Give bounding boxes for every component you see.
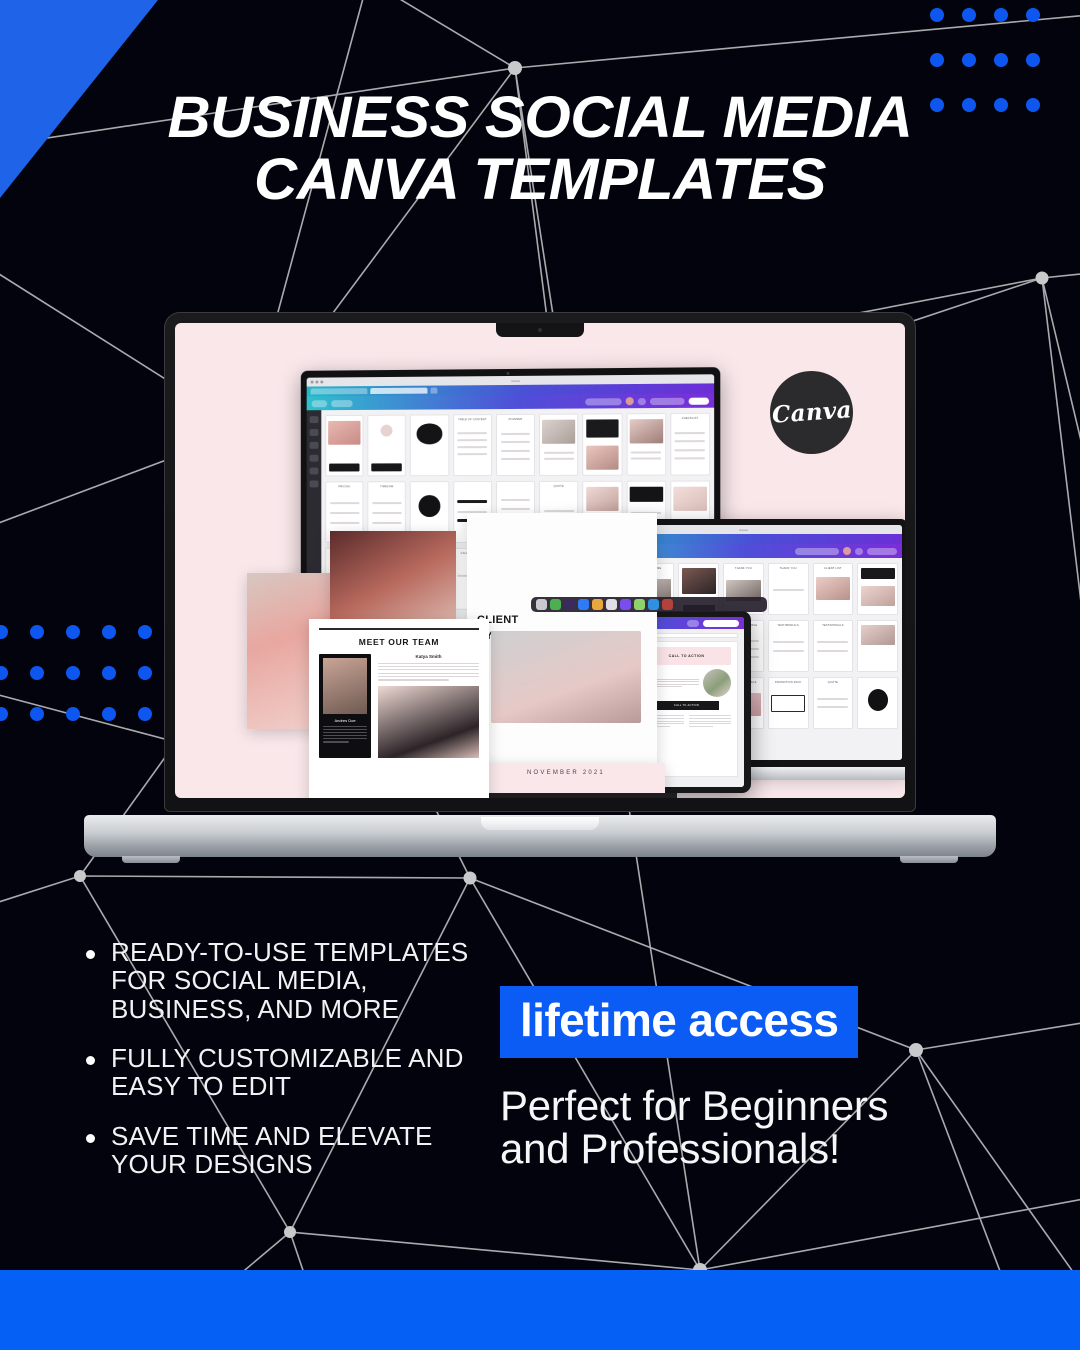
- print-button[interactable]: [703, 620, 739, 627]
- decor-dot: [0, 666, 8, 680]
- template-thumbnail[interactable]: QUOTE: [813, 677, 854, 729]
- status-badge: lifetime access: [500, 986, 858, 1058]
- sidebar-item-elements[interactable]: [310, 442, 319, 449]
- podcasts-icon[interactable]: [564, 599, 575, 610]
- notes-icon[interactable]: [634, 599, 645, 610]
- team-member-name: Andres Doe: [323, 718, 367, 723]
- bullet-dot-icon: [86, 1056, 95, 1065]
- doc-cta-button[interactable]: CALL TO ACTION: [654, 701, 718, 710]
- bullet-dot-icon: [86, 1134, 95, 1143]
- template-thumbnail[interactable]: CHECKLIST: [670, 413, 710, 476]
- sidebar-item-templates[interactable]: [310, 429, 319, 436]
- canva-logo-badge: Canva: [770, 371, 853, 454]
- template-thumbnail[interactable]: [539, 414, 578, 476]
- laptop-foot-right: [900, 856, 958, 863]
- bullet-text: READY-TO-USE TEMPLATES FOR SOCIAL MEDIA,…: [111, 938, 506, 1023]
- template-thumbnail[interactable]: [626, 413, 666, 476]
- team-member-bio: [323, 726, 367, 743]
- window-close-icon[interactable]: [311, 381, 314, 384]
- laptop-mockup: Canva Canva: [84, 312, 996, 857]
- template-thumbnail[interactable]: PROMOTION PACK: [768, 677, 809, 729]
- bullet-text: FULLY CUSTOMIZABLE AND EASY TO EDIT: [111, 1044, 506, 1101]
- file-menu-button[interactable]: [312, 400, 328, 407]
- page-title: BUSINESS SOCIAL MEDIA CANVA TEMPLATES: [0, 88, 1080, 211]
- doc-heading: CALL TO ACTION: [669, 654, 705, 658]
- browser-tab-active[interactable]: [370, 388, 427, 394]
- decor-dot: [66, 707, 80, 721]
- decor-dot: [30, 666, 44, 680]
- decor-dot: [66, 666, 80, 680]
- headline-line-1: BUSINESS SOCIAL MEDIA: [46, 88, 1035, 148]
- share-icon[interactable]: [638, 398, 646, 405]
- try-pro-button[interactable]: [867, 548, 897, 555]
- messages-icon[interactable]: [550, 599, 561, 610]
- list-item: FULLY CUSTOMIZABLE AND EASY TO EDIT: [86, 1044, 506, 1101]
- template-thumbnail[interactable]: [583, 413, 623, 476]
- template-thumbnail[interactable]: TABLE OF CONTENT: [453, 414, 492, 476]
- bottom-accent-bar: [0, 1270, 1080, 1350]
- canva-app-icon[interactable]: [620, 599, 631, 610]
- decor-dot: [1026, 8, 1040, 22]
- list-item: SAVE TIME AND ELEVATE YOUR DESIGNS: [86, 1122, 506, 1179]
- date-label: NOVEMBER 2021: [527, 770, 605, 776]
- template-thumbnail[interactable]: THANK YOU: [768, 563, 809, 615]
- template-thumbnail[interactable]: [857, 620, 898, 672]
- canva-logo-text: Canva: [771, 396, 852, 428]
- bullet-dot-icon: [86, 950, 95, 959]
- sidebar-item-projects[interactable]: [310, 480, 319, 487]
- decor-dot: [30, 707, 44, 721]
- browser-tab[interactable]: [311, 388, 368, 394]
- trash-icon[interactable]: [662, 599, 673, 610]
- tagline-line-2: and Professionals!: [500, 1127, 1020, 1170]
- sale-banner: CIAL SALE OFFER: [481, 793, 677, 798]
- template-thumbnail[interactable]: [410, 414, 449, 476]
- create-design-button[interactable]: [331, 400, 353, 407]
- sidebar-item-text[interactable]: [310, 468, 319, 475]
- share-button[interactable]: [687, 620, 699, 627]
- collage-client-packet-card: CLIENT BYE PACKET: [467, 513, 657, 763]
- toolbar-right-group: [795, 547, 897, 555]
- decor-dot: [994, 8, 1008, 22]
- decor-dot: [66, 625, 80, 639]
- decor-dot: [0, 707, 8, 721]
- headline-line-2: CANVA TEMPLATES: [46, 150, 1035, 210]
- team-member-photo: [378, 686, 479, 758]
- list-item: READY-TO-USE TEMPLATES FOR SOCIAL MEDIA,…: [86, 938, 506, 1023]
- sidebar-item-home[interactable]: [310, 416, 319, 423]
- webcam-notch: [496, 323, 584, 337]
- decor-dot: [30, 625, 44, 639]
- device-camera-icon: [507, 372, 510, 375]
- team-card-title: MEET OUR TEAM: [319, 637, 479, 647]
- team-member-photo: [323, 658, 367, 714]
- collage-team-card: MEET OUR TEAM Andres Doe Katya Smith: [309, 619, 489, 798]
- macos-dock: [531, 597, 767, 612]
- avatar[interactable]: [626, 397, 634, 405]
- badge-label: lifetime access: [520, 997, 838, 1043]
- finder-icon[interactable]: [536, 599, 547, 610]
- decor-dot: [962, 53, 976, 67]
- photos-icon[interactable]: [592, 599, 603, 610]
- team-member-card: Andres Doe: [319, 654, 371, 758]
- template-thumbnail[interactable]: TESTIMONIALS: [768, 620, 809, 672]
- doc-circle-image: [703, 669, 731, 697]
- tagline-line-1: Perfect for Beginners: [500, 1084, 1020, 1127]
- window-minimize-icon[interactable]: [315, 381, 318, 384]
- toolbar-right-group: [585, 397, 709, 406]
- client-packet-image: [491, 631, 641, 723]
- template-row: TABLE OF CONTENT PLANNER CHECKLIST: [325, 413, 710, 477]
- team-member-name: Katya Smith: [378, 654, 479, 659]
- template-thumbnail[interactable]: [325, 415, 363, 477]
- team-side-column: Katya Smith: [378, 654, 479, 758]
- laptop-base: [84, 815, 996, 857]
- toolbar-left-group: [312, 400, 353, 407]
- bullet-text: SAVE TIME AND ELEVATE YOUR DESIGNS: [111, 1122, 506, 1179]
- laptop-screen: Canva Canva: [175, 323, 905, 798]
- template-thumbnail[interactable]: [857, 677, 898, 729]
- template-thumbnail[interactable]: TESTIMONIALS: [813, 620, 854, 672]
- try-pro-button[interactable]: [650, 397, 685, 404]
- decor-dot: [962, 8, 976, 22]
- share-icon[interactable]: [855, 548, 863, 555]
- feature-bullet-list: READY-TO-USE TEMPLATES FOR SOCIAL MEDIA,…: [86, 938, 506, 1199]
- appstore-icon[interactable]: [578, 599, 589, 610]
- template-thumbnail[interactable]: CLIENT LIST: [813, 563, 854, 615]
- team-card-rule: [319, 628, 479, 630]
- laptop-lid: Canva Canva: [164, 312, 916, 812]
- team-card-grid: Andres Doe Katya Smith: [319, 654, 479, 758]
- safari-icon[interactable]: [648, 599, 659, 610]
- team-member-bio: [378, 663, 479, 681]
- toolbar-right-group: [687, 620, 739, 627]
- tagline: Perfect for Beginners and Professionals!: [500, 1084, 1020, 1171]
- avatar[interactable]: [843, 547, 851, 555]
- new-tab-button[interactable]: [430, 388, 437, 394]
- doc-column: [689, 715, 731, 727]
- doc-cta-label: CALL TO ACTION: [674, 704, 699, 707]
- decor-dot: [994, 53, 1008, 67]
- decor-dot: [930, 53, 944, 67]
- workspace-label: [795, 548, 839, 555]
- decor-dot: [1026, 53, 1040, 67]
- template-thumbnail[interactable]: PLANNER: [496, 414, 535, 476]
- decor-dot: [930, 8, 944, 22]
- collage-sale-card: NOVEMBER 2021 CIAL SALE OFFER: [467, 763, 665, 798]
- workspace-label: [585, 398, 621, 405]
- laptop-foot-left: [122, 856, 180, 863]
- poster-canvas: BUSINESS SOCIAL MEDIA CANVA TEMPLATES Ca…: [0, 0, 1080, 1350]
- sidebar-item-uploads[interactable]: [310, 455, 319, 462]
- template-thumbnail[interactable]: [368, 415, 407, 477]
- template-thumbnail[interactable]: [857, 563, 898, 615]
- create-button[interactable]: [689, 397, 709, 404]
- decor-dot: [0, 625, 8, 639]
- preview-icon[interactable]: [606, 599, 617, 610]
- window-zoom-icon[interactable]: [320, 381, 323, 384]
